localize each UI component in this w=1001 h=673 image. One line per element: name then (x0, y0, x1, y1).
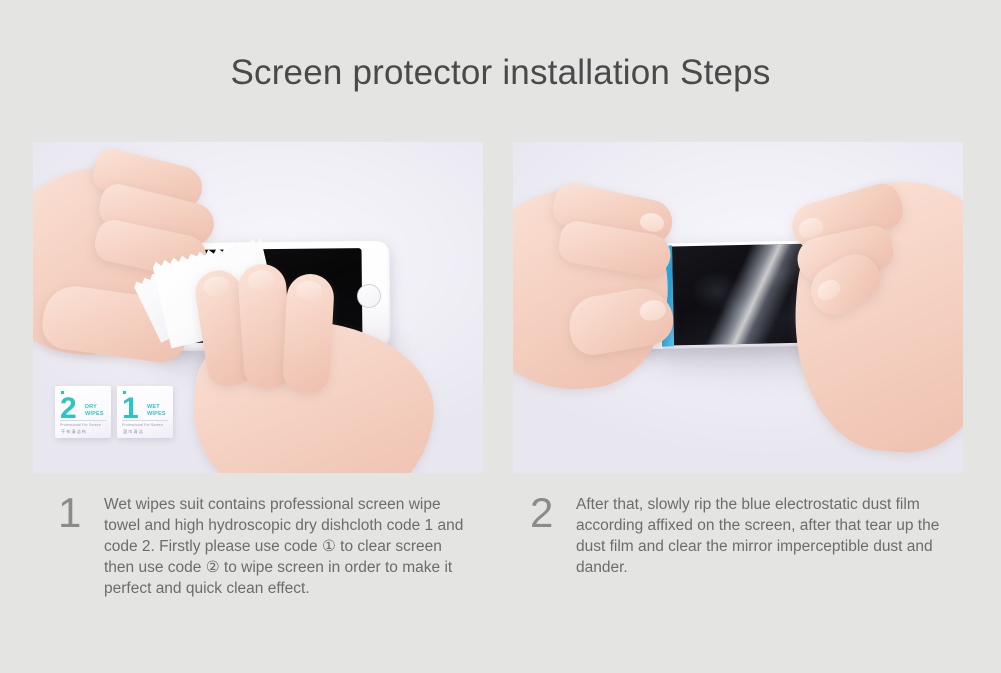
step-number: 1 (58, 492, 104, 534)
sachet-subtitle: Professional For Screen (60, 420, 106, 427)
fingernail (296, 280, 323, 300)
step-1-photo: 2 DRY WIPES Professional For Screen 干布清洁… (33, 142, 483, 473)
fingernail (202, 275, 231, 298)
fingernail (638, 298, 667, 322)
sachet-subtitle: Professional For Screen (122, 420, 168, 427)
step-2-photo (513, 142, 963, 473)
step-description: Wet wipes suit contains professional scr… (104, 492, 468, 599)
step-2-caption: 2 After that, slowly rip the blue electr… (530, 492, 950, 578)
page-title: Screen protector installation Steps (0, 52, 1001, 94)
right-hand-finger (282, 273, 335, 393)
fingernail (247, 269, 275, 291)
step-description: After that, slowly rip the blue electros… (576, 492, 950, 578)
dry-wipes-sachet: 2 DRY WIPES Professional For Screen 干布清洁… (55, 386, 111, 438)
sachet-label: WET WIPES (147, 404, 166, 419)
sachet-cn-text: 湿巾清洁 (123, 429, 144, 435)
step-number: 2 (530, 492, 576, 534)
home-button-icon (357, 284, 381, 308)
sachet-label: DRY WIPES (85, 404, 104, 419)
wet-wipes-sachet: 1 WET WIPES Professional For Screen 湿巾清洁 (117, 386, 173, 438)
sachet-cn-text: 干布清洁布 (61, 429, 87, 435)
step-1-caption: 1 Wet wipes suit contains professional s… (58, 492, 468, 599)
fingernail (814, 276, 844, 304)
fingernail (639, 211, 666, 234)
